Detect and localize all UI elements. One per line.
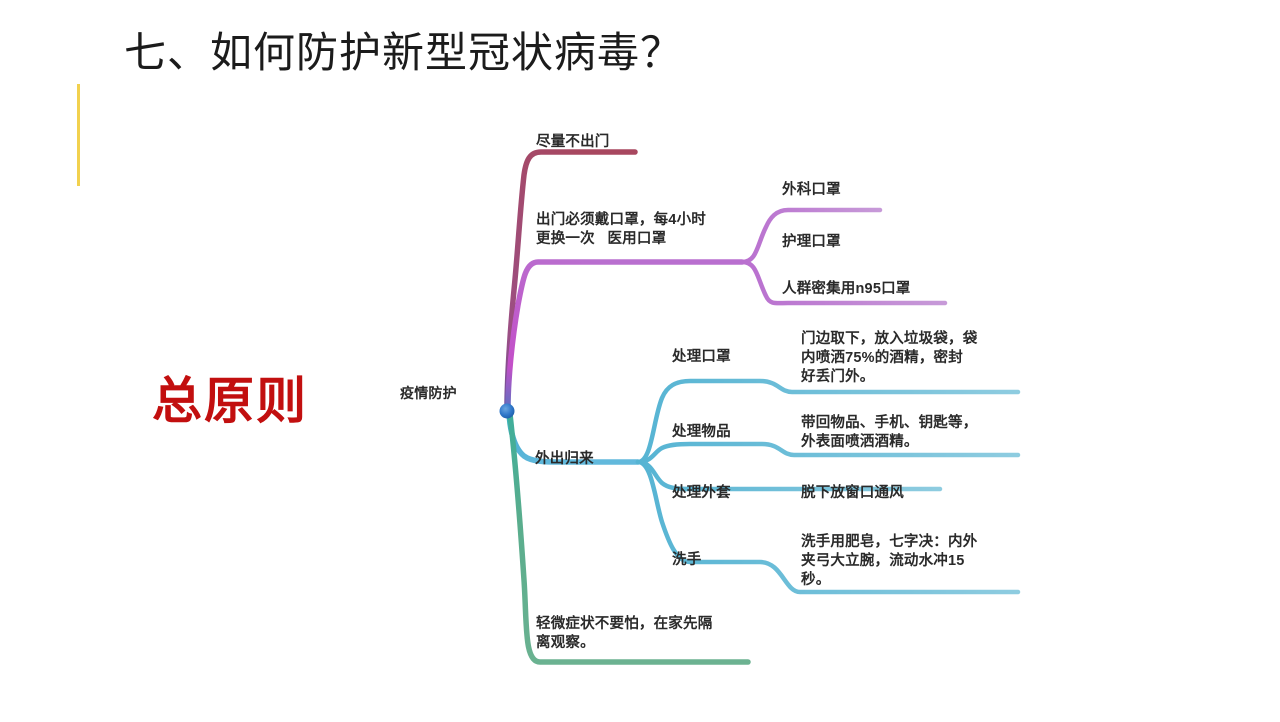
- branch-stay-home: [507, 152, 635, 409]
- child-label-wash-hands[interactable]: 洗手: [672, 551, 701, 570]
- branch-label-stay-home[interactable]: 尽量不出门: [536, 133, 610, 152]
- child-label-n95-mask[interactable]: 人群密集用n95口罩: [782, 280, 911, 299]
- page-title: 七、如何防护新型冠状病毒？: [124, 28, 683, 78]
- child-label-handle-mask[interactable]: 处理口罩: [672, 348, 731, 367]
- child-label-nursing-mask[interactable]: 护理口罩: [782, 233, 841, 252]
- child-detail-handle-mask: 门边取下，放入垃圾袋，袋 内喷洒75%的酒精，密封 好丢门外。: [801, 330, 977, 387]
- child-label-surgical-mask[interactable]: 外科口罩: [782, 181, 841, 200]
- title-accent-bar: [77, 84, 80, 186]
- child-detail-handle-coat: 脱下放窗口通风: [801, 484, 904, 503]
- child-label-handle-coat[interactable]: 处理外套: [672, 484, 731, 503]
- child-detail-wash-hands: 洗手用肥皂，七字决：内外 夹弓大立腕，流动水冲15 秒。: [801, 533, 977, 590]
- root-label[interactable]: 疫情防护: [400, 384, 457, 403]
- child-label-handle-items[interactable]: 处理物品: [672, 423, 731, 442]
- slide-canvas: 七、如何防护新型冠状病毒？ 总原则: [0, 0, 1280, 722]
- root-node-dot[interactable]: [500, 404, 515, 419]
- branch-label-return-home[interactable]: 外出归来: [535, 450, 594, 469]
- branch-label-mild-symptoms[interactable]: 轻微症状不要怕，在家先隔 离观察。: [536, 615, 712, 653]
- general-principle-heading: 总原则: [152, 374, 308, 429]
- mindmap-diagram: [0, 0, 1280, 722]
- branch-label-mask[interactable]: 出门必须戴口罩，每4小时 更换一次 医用口罩: [536, 211, 706, 249]
- child-detail-handle-items: 带回物品、手机、钥匙等， 外表面喷洒酒精。: [801, 414, 977, 452]
